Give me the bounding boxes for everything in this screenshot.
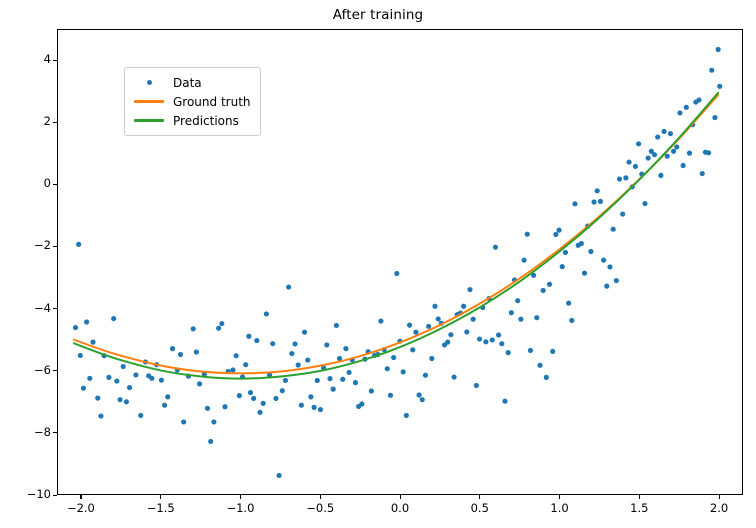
data-point bbox=[78, 353, 83, 358]
data-point bbox=[388, 393, 393, 398]
data-point bbox=[518, 317, 523, 322]
data-point bbox=[712, 115, 717, 120]
data-point bbox=[528, 348, 533, 353]
data-point bbox=[423, 373, 428, 378]
data-point bbox=[461, 304, 466, 309]
data-point bbox=[687, 151, 692, 156]
data-point bbox=[525, 232, 530, 237]
data-point bbox=[162, 403, 167, 408]
data-point bbox=[194, 349, 199, 354]
legend: Data Ground truth Predictions bbox=[124, 67, 261, 136]
legend-label-predictions: Predictions bbox=[173, 115, 239, 127]
data-point bbox=[138, 413, 143, 418]
y-tick-mark bbox=[53, 308, 57, 309]
data-point bbox=[359, 401, 364, 406]
data-point bbox=[407, 323, 412, 328]
data-point bbox=[237, 393, 242, 398]
x-tick-mark bbox=[400, 495, 401, 499]
data-point bbox=[464, 329, 469, 334]
data-point bbox=[410, 347, 415, 352]
data-point bbox=[700, 171, 705, 176]
data-point bbox=[127, 385, 132, 390]
data-point bbox=[81, 386, 86, 391]
x-tick-label: 1.0 bbox=[550, 501, 568, 515]
x-tick-label: −2.0 bbox=[67, 501, 95, 515]
data-point bbox=[591, 199, 596, 204]
data-point bbox=[553, 232, 558, 237]
x-tick-label: −1.5 bbox=[147, 501, 175, 515]
data-point bbox=[273, 396, 278, 401]
data-point bbox=[681, 163, 686, 168]
legend-entry-data: Data bbox=[132, 73, 251, 92]
data-point bbox=[426, 324, 431, 329]
data-point bbox=[159, 378, 164, 383]
data-point bbox=[509, 310, 514, 315]
data-point bbox=[401, 369, 406, 374]
data-point bbox=[614, 278, 619, 283]
y-tick-label: −4 bbox=[34, 301, 51, 315]
plot-axes: Data Ground truth Predictions bbox=[57, 29, 743, 495]
ground-truth-line bbox=[74, 95, 718, 373]
data-point bbox=[499, 341, 504, 346]
data-point bbox=[642, 201, 647, 206]
data-point bbox=[626, 159, 631, 164]
matplotlib-figure: After training Data Ground truth bbox=[0, 0, 756, 528]
x-tick-mark bbox=[160, 495, 161, 499]
legend-label-data: Data bbox=[173, 77, 202, 89]
x-tick-mark bbox=[240, 495, 241, 499]
data-point bbox=[165, 394, 170, 399]
y-tick-mark bbox=[53, 432, 57, 433]
legend-entry-predictions: Predictions bbox=[132, 111, 251, 130]
data-point bbox=[502, 399, 507, 404]
data-point bbox=[420, 397, 425, 402]
data-point bbox=[617, 177, 622, 182]
data-point bbox=[655, 134, 660, 139]
data-point bbox=[677, 110, 682, 115]
data-point bbox=[706, 150, 711, 155]
data-point bbox=[197, 381, 202, 386]
data-point bbox=[588, 249, 593, 254]
data-point bbox=[219, 321, 224, 326]
data-point bbox=[604, 284, 609, 289]
data-point bbox=[572, 201, 577, 206]
data-point bbox=[646, 155, 651, 160]
data-point bbox=[474, 383, 479, 388]
data-point bbox=[537, 363, 542, 368]
data-point bbox=[429, 356, 434, 361]
data-point bbox=[264, 311, 269, 316]
data-point bbox=[385, 366, 390, 371]
data-point bbox=[595, 188, 600, 193]
data-point bbox=[436, 316, 441, 321]
legend-line-predictions-icon bbox=[132, 114, 166, 128]
data-point bbox=[633, 164, 638, 169]
data-point bbox=[394, 271, 399, 276]
x-tick-mark bbox=[639, 495, 640, 499]
data-point bbox=[222, 404, 227, 409]
data-point bbox=[261, 401, 266, 406]
data-point bbox=[544, 375, 549, 380]
data-point bbox=[117, 397, 122, 402]
data-point bbox=[506, 350, 511, 355]
data-point bbox=[560, 264, 565, 269]
data-point bbox=[541, 288, 546, 293]
data-point bbox=[598, 199, 603, 204]
legend-line-ground-truth-icon bbox=[132, 95, 166, 109]
data-point bbox=[515, 298, 520, 303]
data-point bbox=[416, 392, 421, 397]
data-point bbox=[378, 318, 383, 323]
data-point bbox=[369, 388, 374, 393]
data-point bbox=[170, 346, 175, 351]
data-point bbox=[611, 227, 616, 232]
data-point bbox=[277, 473, 282, 478]
data-point bbox=[432, 304, 437, 309]
data-point bbox=[483, 339, 488, 344]
data-point bbox=[111, 316, 116, 321]
x-tick-mark bbox=[320, 495, 321, 499]
data-point bbox=[324, 342, 329, 347]
data-point bbox=[315, 378, 320, 383]
data-point bbox=[211, 419, 216, 424]
data-point bbox=[87, 376, 92, 381]
data-point bbox=[658, 173, 663, 178]
data-point bbox=[620, 211, 625, 216]
y-tick-mark bbox=[53, 60, 57, 61]
x-tick-label: −0.5 bbox=[306, 501, 334, 515]
data-point bbox=[684, 105, 689, 110]
data-point bbox=[661, 129, 666, 134]
data-point bbox=[121, 364, 126, 369]
y-tick-label: 4 bbox=[44, 52, 51, 66]
data-point bbox=[601, 258, 606, 263]
data-point bbox=[404, 413, 409, 418]
data-point bbox=[76, 242, 81, 247]
chart-title: After training bbox=[0, 7, 756, 23]
data-point bbox=[534, 315, 539, 320]
data-point bbox=[149, 376, 154, 381]
data-point bbox=[521, 258, 526, 263]
x-tick-mark bbox=[559, 495, 560, 499]
data-point bbox=[73, 325, 78, 330]
data-point bbox=[280, 388, 285, 393]
data-point bbox=[205, 406, 210, 411]
data-point bbox=[582, 271, 587, 276]
data-point bbox=[302, 330, 307, 335]
y-tick-mark bbox=[53, 184, 57, 185]
data-point bbox=[566, 301, 571, 306]
data-point bbox=[216, 326, 221, 331]
data-point bbox=[283, 378, 288, 383]
data-point bbox=[467, 287, 472, 292]
data-point bbox=[133, 372, 138, 377]
data-point bbox=[327, 376, 332, 381]
x-tick-label: 0.0 bbox=[391, 501, 409, 515]
y-tick-label: −10 bbox=[27, 487, 51, 501]
y-tick-label: 2 bbox=[44, 114, 51, 128]
data-point bbox=[254, 338, 259, 343]
data-point bbox=[623, 175, 628, 180]
data-point bbox=[579, 241, 584, 246]
y-tick-label: −2 bbox=[34, 238, 51, 252]
data-point bbox=[636, 141, 641, 146]
y-tick-label: −8 bbox=[34, 425, 51, 439]
data-point bbox=[607, 264, 612, 269]
data-point bbox=[413, 330, 418, 335]
data-point bbox=[696, 97, 701, 102]
x-tick-label: 2.0 bbox=[710, 501, 728, 515]
data-point bbox=[246, 334, 251, 339]
data-point bbox=[445, 340, 450, 345]
data-point bbox=[292, 341, 297, 346]
data-point bbox=[709, 68, 714, 73]
data-point bbox=[251, 396, 256, 401]
data-point bbox=[668, 131, 673, 136]
x-tick-mark bbox=[80, 495, 81, 499]
data-point bbox=[230, 367, 235, 372]
data-point bbox=[563, 250, 568, 255]
data-point bbox=[98, 413, 103, 418]
data-point bbox=[716, 47, 721, 52]
y-tick-label: 0 bbox=[44, 176, 51, 190]
legend-marker-data-icon bbox=[132, 76, 166, 90]
x-tick-label: 1.5 bbox=[630, 501, 648, 515]
data-point bbox=[312, 405, 317, 410]
data-point bbox=[674, 144, 679, 149]
data-point bbox=[296, 362, 301, 367]
data-point bbox=[308, 394, 313, 399]
data-point bbox=[496, 332, 501, 337]
data-point bbox=[343, 346, 348, 351]
data-point bbox=[289, 351, 294, 356]
data-point bbox=[208, 439, 213, 444]
data-point bbox=[106, 375, 111, 380]
legend-entry-ground-truth: Ground truth bbox=[132, 92, 251, 111]
data-point bbox=[305, 357, 310, 362]
data-point bbox=[556, 228, 561, 233]
data-point bbox=[451, 374, 456, 379]
data-point bbox=[95, 396, 100, 401]
data-point bbox=[550, 349, 555, 354]
data-point bbox=[178, 352, 183, 357]
y-tick-mark bbox=[53, 122, 57, 123]
data-point bbox=[334, 323, 339, 328]
data-point bbox=[331, 387, 336, 392]
data-point bbox=[477, 336, 482, 341]
x-tick-label: −1.0 bbox=[226, 501, 254, 515]
data-point bbox=[318, 407, 323, 412]
data-point bbox=[257, 410, 262, 415]
data-point bbox=[84, 319, 89, 324]
data-point bbox=[124, 399, 129, 404]
data-point bbox=[234, 353, 239, 358]
data-point bbox=[717, 84, 722, 89]
data-point bbox=[114, 379, 119, 384]
x-tick-label: 0.5 bbox=[471, 501, 489, 515]
x-tick-mark bbox=[479, 495, 480, 499]
data-point bbox=[547, 282, 552, 287]
data-point bbox=[90, 340, 95, 345]
data-point bbox=[243, 362, 248, 367]
data-point bbox=[391, 355, 396, 360]
data-point bbox=[340, 377, 345, 382]
data-point bbox=[299, 403, 304, 408]
data-point bbox=[490, 337, 495, 342]
data-point bbox=[248, 390, 253, 395]
data-point bbox=[191, 326, 196, 331]
data-point bbox=[652, 152, 657, 157]
data-point bbox=[493, 245, 498, 250]
x-tick-mark bbox=[719, 495, 720, 499]
data-point bbox=[270, 341, 275, 346]
data-point bbox=[448, 332, 453, 337]
data-point bbox=[471, 317, 476, 322]
data-point bbox=[353, 380, 358, 385]
y-tick-mark bbox=[53, 246, 57, 247]
data-point bbox=[286, 284, 291, 289]
data-point bbox=[569, 318, 574, 323]
legend-label-ground-truth: Ground truth bbox=[173, 96, 251, 108]
data-point bbox=[347, 370, 352, 375]
y-tick-mark bbox=[53, 370, 57, 371]
data-point bbox=[181, 419, 186, 424]
data-point bbox=[671, 149, 676, 154]
y-tick-mark bbox=[53, 495, 57, 496]
y-tick-label: −6 bbox=[34, 363, 51, 377]
